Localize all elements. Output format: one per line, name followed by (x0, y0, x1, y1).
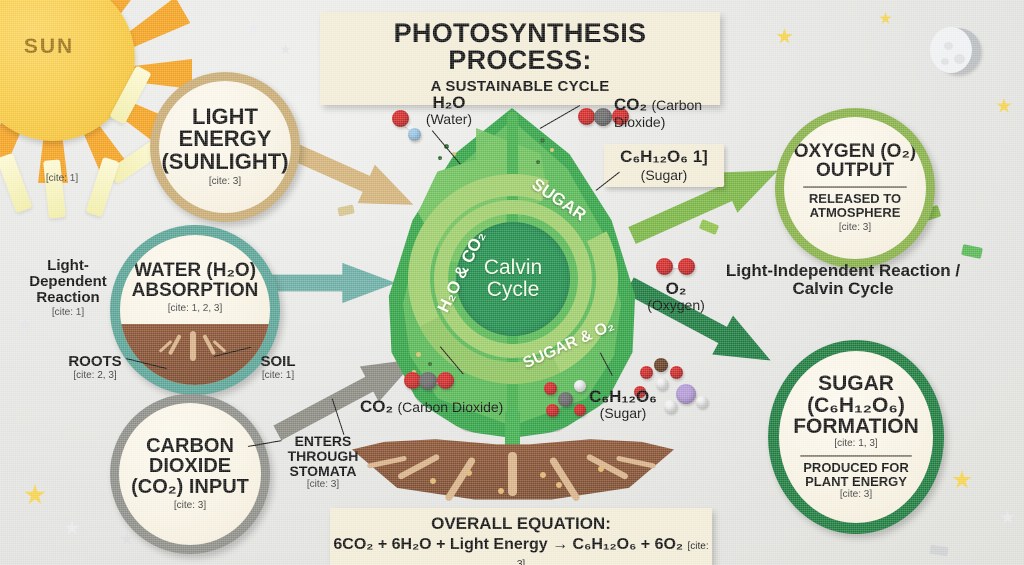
roots-cite: [cite: 2, 3] (62, 370, 128, 382)
co2-line-2: DIOXIDE (149, 456, 231, 477)
sugar-line-2: (C₆H₁₂O₆) (807, 395, 905, 417)
root (508, 452, 517, 496)
stomata-line-1: ENTERS (282, 434, 364, 449)
star-icon (64, 520, 80, 536)
sugar-chip-formula: C₆H₁₂O₆ 1] (612, 147, 716, 167)
title-line-1: PHOTOSYNTHESIS PROCESS: (320, 20, 720, 74)
co2-top-formula: CO₂ (614, 95, 647, 114)
oxygen-cite: [cite: 3] (839, 222, 871, 234)
calvin-cycle-line-2: Cycle (487, 279, 540, 301)
stomata-line-3: STOMATA (282, 464, 364, 479)
annotation-roots: ROOTS [cite: 2, 3] (62, 354, 128, 382)
star-icon (18, 318, 32, 332)
equation-formula: 6CO₂ + 6H₂O + Light Energy → C₆H₁₂O₆ + 6… (333, 536, 683, 553)
light-dependent-cite: [cite: 1] (16, 307, 120, 319)
o2-name: (Oxygen) (636, 298, 716, 313)
sugar-bottom-name: (Sugar) (568, 406, 678, 421)
sugar-chip-name: (Sugar) (612, 167, 716, 183)
star-icon (879, 12, 892, 25)
node-sugar-formation[interactable]: SUGAR (C₆H₁₂O₆) FORMATION [cite: 1, 3] P… (768, 340, 944, 534)
leader-line (540, 105, 581, 129)
light-energy-cite: [cite: 3] (209, 176, 241, 188)
leader-line (431, 130, 460, 165)
co2-cite: [cite: 3] (174, 500, 206, 512)
confetti (961, 244, 983, 259)
sun-cite: [cite: 1] (22, 168, 102, 185)
light-dependent-line-3: Reaction (16, 290, 120, 306)
oxygen-divider (803, 186, 907, 188)
star-icon (120, 532, 134, 546)
water-cite: [cite: 1, 2, 3] (168, 303, 222, 315)
stomata-cite: [cite: 3] (282, 479, 364, 491)
light-energy-line-2: ENERGY (179, 128, 272, 151)
co2-bottom-name: (Carbon Dioxide) (398, 399, 504, 415)
sugar-line-3: FORMATION (793, 416, 919, 438)
annotation-stomata: ENTERS THROUGH STOMATA [cite: 3] (282, 434, 364, 491)
light-dependent-line-1: Light- (16, 258, 120, 274)
o2-formula: O₂ (636, 280, 716, 298)
label-sugar-chip: C₆H₁₂O₆ 1] (Sugar) (604, 144, 724, 187)
light-independent-line-2: Calvin Cycle (718, 280, 968, 298)
label-co2-bottom: CO₂ (Carbon Dioxide) (360, 398, 510, 416)
star-icon (996, 98, 1012, 114)
sugar-cite-1: [cite: 1, 3] (834, 438, 877, 450)
sugar-sub-1: PRODUCED FOR (803, 461, 908, 475)
soil-label: SOIL (250, 354, 306, 370)
moon-icon (935, 28, 981, 74)
star-icon (24, 484, 46, 506)
confetti (929, 545, 948, 556)
node-oxygen-output[interactable]: OXYGEN (O₂) OUTPUT RELEASED TO ATMOSPHER… (775, 108, 935, 268)
oxygen-sub-1: RELEASED TO (809, 192, 901, 206)
confetti (337, 204, 355, 216)
water-line-2: ABSORPTION (132, 281, 259, 301)
co2-bottom-formula: CO₂ (360, 397, 393, 416)
infographic-canvas: SUN [cite: 1] PHOTOSYNTHESIS PROCESS: A … (0, 0, 1024, 565)
sugar-cite-2: [cite: 3] (840, 489, 872, 501)
h2o-name: (Water) (404, 112, 494, 127)
roots-label: ROOTS (62, 354, 128, 370)
star-icon (246, 20, 261, 35)
node-light-energy[interactable]: LIGHT ENERGY (SUNLIGHT) [cite: 3] (150, 72, 300, 222)
annotation-soil: SOIL [cite: 1] (250, 354, 306, 382)
co2-line-1: CARBON (146, 436, 234, 457)
sugar-line-1: SUGAR (818, 373, 894, 395)
light-energy-line-3: (SUNLIGHT) (161, 151, 288, 174)
soil-cite: [cite: 1] (250, 370, 306, 382)
label-o2: O₂ (Oxygen) (636, 280, 716, 313)
node-co2-input[interactable]: CARBON DIOXIDE (CO₂) INPUT [cite: 3] (110, 394, 270, 554)
light-dependent-line-2: Dependent (16, 274, 120, 290)
star-icon (1000, 510, 1015, 525)
title-banner: PHOTOSYNTHESIS PROCESS: A SUSTAINABLE CY… (320, 12, 720, 105)
star-icon (280, 44, 291, 55)
label-sugar-bottom: C₆H₁₂O₆ (Sugar) (568, 388, 678, 421)
annotation-light-independent: Light-Independent Reaction / Calvin Cycl… (718, 262, 968, 299)
water-line-1: WATER (H₂O) (134, 261, 256, 281)
equation-banner: OVERALL EQUATION: 6CO₂ + 6H₂O + Light En… (330, 508, 712, 565)
title-line-2: A SUSTAINABLE CYCLE (320, 78, 720, 95)
star-icon (776, 28, 793, 45)
label-co2-top: CO₂ (Carbon Dioxide) (614, 96, 744, 132)
calvin-cycle-line-1: Calvin (484, 257, 542, 279)
light-independent-line-1: Light-Independent Reaction / (718, 262, 968, 280)
label-h2o: H₂O (Water) (404, 94, 494, 127)
sugar-divider (800, 455, 912, 457)
oxygen-line-1: OXYGEN (O₂) (794, 142, 916, 162)
confetti (699, 219, 719, 235)
h2o-formula: H₂O (404, 94, 494, 112)
oxygen-sub-2: ATMOSPHERE (810, 206, 901, 220)
annotation-light-dependent: Light- Dependent Reaction [cite: 1] (16, 258, 120, 319)
oxygen-line-2: OUTPUT (816, 161, 894, 181)
light-energy-line-1: LIGHT (192, 106, 258, 129)
co2-line-3: (CO₂) INPUT (131, 477, 249, 498)
sugar-sub-2: PLANT ENERGY (805, 475, 907, 489)
equation-heading: OVERALL EQUATION: (330, 514, 712, 534)
stomata-line-2: THROUGH (282, 449, 364, 464)
sun-label: SUN (24, 35, 74, 59)
sugar-bottom-formula: C₆H₁₂O₆ (568, 388, 678, 406)
star-icon (952, 470, 972, 490)
